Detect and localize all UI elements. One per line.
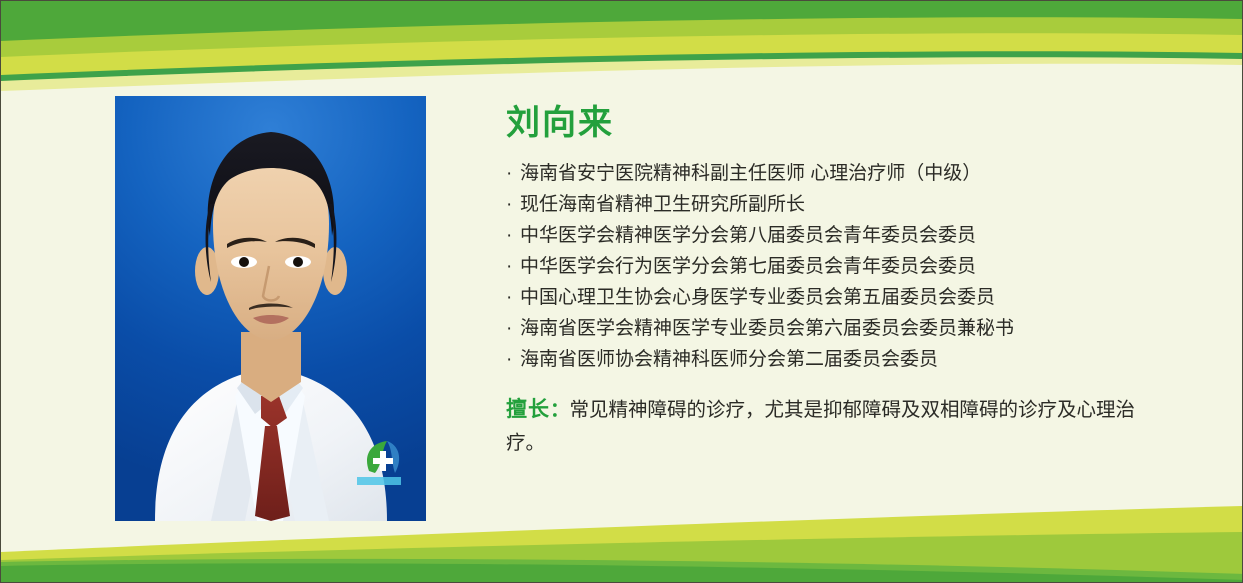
bullet-icon: · bbox=[506, 220, 520, 251]
bullet-icon: · bbox=[506, 158, 520, 189]
credentials-list: ·海南省安宁医院精神科副主任医师 心理治疗师（中级） ·现任海南省精神卫生研究所… bbox=[506, 158, 1166, 375]
portrait-illustration bbox=[115, 96, 426, 521]
doctor-info-block: 刘向来 ·海南省安宁医院精神科副主任医师 心理治疗师（中级） ·现任海南省精神卫… bbox=[506, 105, 1166, 480]
credential-text: 海南省医学会精神医学专业委员会第六届委员会委员兼秘书 bbox=[520, 318, 1014, 339]
top-band-green-sliver bbox=[1, 51, 1243, 89]
badge-text-bar bbox=[357, 477, 401, 485]
specialty-text: 常见精神障碍的诊疗，尤其是抑郁障碍及双相障碍的诊疗及心理治疗。 bbox=[506, 399, 1135, 454]
credential-text: 中华医学会行为医学分会第七届委员会青年委员会委员 bbox=[520, 256, 976, 277]
top-decorative-banner bbox=[1, 1, 1243, 93]
doctor-name: 刘向来 bbox=[506, 105, 1166, 142]
credential-text: 中国心理卫生协会心身医学专业委员会第五届委员会委员 bbox=[520, 287, 995, 308]
top-band-edge-highlight bbox=[1, 57, 1243, 91]
bullet-icon: · bbox=[506, 282, 520, 313]
top-band-lime bbox=[1, 17, 1243, 71]
bullet-icon: · bbox=[506, 189, 520, 220]
credential-item: ·现任海南省精神卫生研究所副所长 bbox=[506, 189, 1166, 220]
credential-text: 海南省安宁医院精神科副主任医师 心理治疗师（中级） bbox=[520, 163, 981, 184]
specialty-separator: ： bbox=[550, 399, 570, 421]
right-pupil bbox=[293, 257, 303, 267]
top-banner-graphic bbox=[1, 1, 1243, 93]
bullet-icon: · bbox=[506, 344, 520, 375]
credential-item: ·海南省安宁医院精神科副主任医师 心理治疗师（中级） bbox=[506, 158, 1166, 189]
credential-text: 海南省医师协会精神科医师分会第二届委员会委员 bbox=[520, 349, 938, 370]
doctor-portrait bbox=[115, 96, 426, 521]
bottom-band-lime bbox=[1, 532, 1243, 582]
specialty-paragraph: 擅长：常见精神障碍的诊疗，尤其是抑郁障碍及双相障碍的诊疗及心理治疗。 bbox=[506, 393, 1154, 460]
specialty-label: 擅长 bbox=[506, 398, 550, 421]
credential-item: ·中华医学会精神医学分会第八届委员会青年委员会委员 bbox=[506, 220, 1166, 251]
credential-item: ·海南省医师协会精神科医师分会第二届委员会委员 bbox=[506, 344, 1166, 375]
bottom-band-dark-green bbox=[1, 563, 1243, 582]
bullet-icon: · bbox=[506, 313, 520, 344]
doctor-profile-poster: 刘向来 ·海南省安宁医院精神科副主任医师 心理治疗师（中级） ·现任海南省精神卫… bbox=[0, 0, 1243, 583]
credential-item: ·中华医学会行为医学分会第七届委员会青年委员会委员 bbox=[506, 251, 1166, 282]
left-pupil bbox=[239, 257, 249, 267]
credential-item: ·海南省医学会精神医学专业委员会第六届委员会委员兼秘书 bbox=[506, 313, 1166, 344]
top-band-yellow-green bbox=[1, 33, 1243, 85]
credential-text: 中华医学会精神医学分会第八届委员会青年委员会委员 bbox=[520, 225, 976, 246]
badge-leaf-blue bbox=[387, 441, 399, 473]
top-band-dark-green bbox=[1, 1, 1243, 63]
credential-item: ·中国心理卫生协会心身医学专业委员会第五届委员会委员 bbox=[506, 282, 1166, 313]
bullet-icon: · bbox=[506, 251, 520, 282]
credential-text: 现任海南省精神卫生研究所副所长 bbox=[520, 194, 805, 215]
bottom-band-mid-green bbox=[1, 559, 1243, 582]
